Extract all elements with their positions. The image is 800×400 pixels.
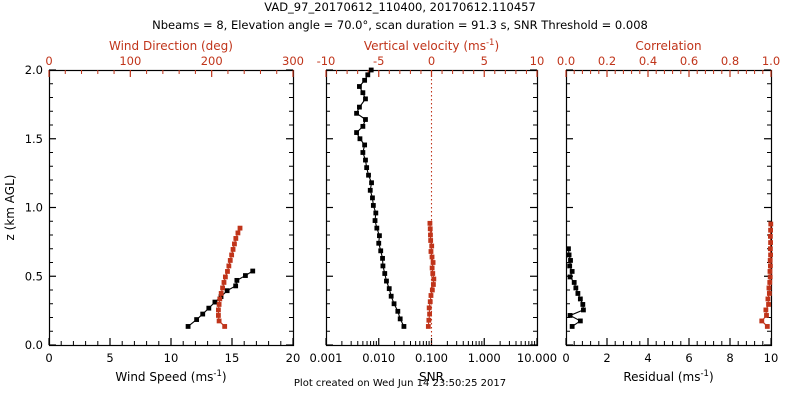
data-point-marker — [570, 269, 575, 274]
data-point-marker — [573, 286, 578, 291]
data-point-marker — [226, 264, 231, 269]
data-point-marker — [428, 221, 433, 226]
data-point-marker — [206, 306, 211, 311]
y-axis-title: z (km AGL) — [3, 175, 17, 241]
data-point-marker — [580, 302, 585, 307]
data-point-marker — [363, 117, 368, 122]
top-tick-label: -10 — [317, 54, 336, 68]
y-tick-label: 0.0 — [25, 338, 43, 352]
data-point-marker — [371, 203, 376, 208]
data-point-marker — [229, 253, 234, 258]
data-point-marker — [228, 258, 233, 263]
top-tick-label: 0.8 — [721, 54, 739, 68]
bottom-tick-label: 10 — [764, 351, 779, 365]
y-tick-label: 2.0 — [25, 63, 43, 77]
data-point-marker — [364, 165, 369, 170]
data-point-marker — [765, 324, 770, 329]
y-tick-label: 0.5 — [25, 269, 43, 283]
data-point-marker — [767, 286, 772, 291]
data-point-marker — [428, 226, 433, 231]
bottom-tick-label: 0.010 — [362, 351, 395, 365]
data-point-marker — [225, 269, 230, 274]
data-point-marker — [213, 300, 218, 305]
data-point-marker — [354, 130, 359, 135]
data-point-marker — [578, 297, 583, 302]
bottom-tick-label: 1.000 — [468, 351, 501, 365]
data-point-marker — [366, 173, 371, 178]
data-point-marker — [427, 305, 432, 310]
data-point-marker — [578, 319, 583, 324]
bottom-tick-label: 20 — [286, 351, 301, 365]
data-point-marker — [392, 301, 397, 306]
data-point-marker — [219, 291, 224, 296]
data-point-marker — [243, 273, 248, 278]
data-point-marker — [384, 279, 389, 284]
data-point-marker — [362, 78, 367, 83]
data-point-marker — [764, 313, 769, 318]
data-point-marker — [233, 236, 238, 241]
data-point-marker — [368, 188, 373, 193]
data-point-marker — [572, 280, 577, 285]
data-point-marker — [768, 275, 773, 280]
bottom-tick-label: 6 — [685, 351, 692, 365]
data-point-marker — [766, 297, 771, 302]
top-tick-label: 100 — [119, 54, 141, 68]
data-point-marker — [374, 226, 379, 231]
data-point-marker — [570, 324, 575, 329]
data-point-marker — [427, 312, 432, 317]
data-point-marker — [429, 293, 434, 298]
panels-svg: 0510152001002003000.00.51.01.52.0Wind Di… — [0, 0, 800, 400]
data-point-marker — [768, 240, 773, 245]
data-point-marker — [360, 150, 365, 155]
bottom-tick-label: 5 — [106, 351, 113, 365]
data-point-marker — [763, 308, 768, 313]
data-point-marker — [363, 96, 368, 101]
data-point-marker — [430, 266, 435, 271]
data-point-marker — [231, 247, 236, 252]
top-axis-title: Vertical velocity (ms-1) — [364, 38, 499, 53]
top-tick-label: 1.0 — [762, 54, 780, 68]
data-point-marker — [768, 269, 773, 274]
data-point-marker — [567, 253, 572, 258]
data-point-marker — [398, 316, 403, 321]
data-point-marker — [357, 105, 362, 110]
panel-1: 0510152001002003000.00.51.01.52.0Wind Di… — [25, 39, 304, 384]
top-tick-label: 300 — [282, 54, 304, 68]
data-point-marker — [222, 280, 227, 285]
data-point-marker — [429, 244, 434, 249]
data-point-marker — [387, 286, 392, 291]
data-point-marker — [217, 319, 222, 324]
data-point-marker — [236, 231, 241, 236]
bottom-tick-label: 15 — [225, 351, 240, 365]
data-point-marker — [238, 226, 243, 231]
data-point-marker — [186, 324, 191, 329]
bottom-tick-label: 0 — [562, 351, 569, 365]
data-point-marker — [567, 264, 572, 269]
data-point-marker — [365, 72, 370, 77]
data-point-marker — [431, 282, 436, 287]
data-point-marker — [568, 313, 573, 318]
data-point-marker — [767, 280, 772, 285]
panel-2: 0.0010.0100.1001.00010.000-10-50510Verti… — [310, 38, 558, 384]
data-point-marker — [378, 248, 383, 253]
data-point-marker — [369, 68, 374, 73]
bottom-tick-label: 0.100 — [415, 351, 448, 365]
data-point-marker — [767, 291, 772, 296]
data-point-marker — [428, 233, 433, 238]
top-tick-label: 0.2 — [598, 54, 616, 68]
data-point-marker — [568, 258, 573, 263]
data-point-marker — [768, 234, 773, 239]
data-point-marker — [373, 218, 378, 223]
plot-frame — [567, 71, 772, 346]
data-point-marker — [354, 111, 359, 116]
data-point-marker — [426, 318, 431, 323]
data-point-marker — [376, 241, 381, 246]
data-point-marker — [426, 324, 431, 329]
data-point-marker — [358, 136, 363, 141]
data-point-marker — [768, 264, 773, 269]
data-point-marker — [217, 302, 222, 307]
data-point-marker — [430, 288, 435, 293]
top-tick-label: 0 — [428, 54, 435, 68]
top-axis-title: Correlation — [635, 39, 701, 53]
data-point-marker — [360, 124, 365, 129]
data-point-marker — [369, 180, 374, 185]
data-point-marker — [234, 278, 239, 283]
bottom-tick-label: 4 — [644, 351, 651, 365]
bottom-tick-label: 10 — [164, 351, 179, 365]
plot-frame — [50, 71, 294, 346]
y-tick-label: 1.5 — [25, 132, 43, 146]
data-point-marker — [759, 319, 764, 324]
top-tick-label: 0.4 — [639, 54, 657, 68]
top-tick-label: 5 — [481, 54, 488, 68]
data-point-marker — [431, 260, 436, 265]
top-axis-title: Wind Direction (deg) — [109, 39, 233, 53]
data-point-marker — [389, 294, 394, 299]
data-point-marker — [381, 264, 386, 269]
bottom-tick-label: 2 — [603, 351, 610, 365]
plot-footer-timestamp: Plot created on Wed Jun 14 23:50:25 2017 — [0, 379, 800, 389]
data-point-marker — [430, 255, 435, 260]
data-point-marker — [428, 238, 433, 243]
data-point-marker — [200, 312, 205, 317]
data-point-marker — [377, 233, 382, 238]
data-point-marker — [357, 84, 362, 89]
data-point-marker — [233, 283, 238, 288]
data-point-marker — [225, 288, 230, 293]
top-tick-label: 0 — [45, 54, 52, 68]
data-point-marker — [768, 246, 773, 251]
data-point-marker — [194, 317, 199, 322]
data-point-marker — [370, 195, 375, 200]
bottom-tick-label: 0.001 — [310, 351, 343, 365]
top-tick-label: 200 — [201, 54, 223, 68]
data-point-marker — [575, 291, 580, 296]
top-tick-label: 0.0 — [557, 54, 575, 68]
data-point-marker — [768, 258, 773, 263]
vad-profile-plot: VAD_97_20170612_110400, 20170612.110457 … — [0, 0, 800, 400]
data-point-marker — [216, 308, 221, 313]
data-point-marker — [360, 90, 365, 95]
data-point-marker — [768, 222, 773, 227]
data-point-marker — [429, 249, 434, 254]
data-point-marker — [217, 297, 222, 302]
data-point-marker — [373, 211, 378, 216]
data-point-marker — [380, 256, 385, 261]
data-point-marker — [220, 286, 225, 291]
data-point-marker — [581, 308, 586, 313]
data-point-marker — [223, 275, 228, 280]
bottom-tick-label: 8 — [726, 351, 733, 365]
data-point-marker — [362, 143, 367, 148]
data-point-marker — [363, 158, 368, 163]
data-point-marker — [430, 271, 435, 276]
panel-3: 02468100.00.20.40.60.81.0CorrelationResi… — [557, 39, 780, 384]
data-point-marker — [250, 269, 255, 274]
bottom-tick-label: 0 — [45, 351, 52, 365]
data-point-marker — [568, 275, 573, 280]
data-point-marker — [428, 299, 433, 304]
data-point-marker — [222, 324, 227, 329]
data-point-marker — [395, 309, 400, 314]
top-tick-label: 10 — [530, 54, 545, 68]
data-point-marker — [382, 271, 387, 276]
data-point-marker — [768, 253, 773, 258]
data-point-marker — [766, 302, 771, 307]
top-tick-label: -5 — [373, 54, 384, 68]
top-tick-label: 0.6 — [680, 54, 698, 68]
y-tick-label: 1.0 — [25, 201, 43, 215]
data-point-marker — [402, 324, 407, 329]
data-point-marker — [216, 313, 221, 318]
bottom-tick-label: 10.000 — [517, 351, 557, 365]
data-point-marker — [232, 242, 237, 247]
data-point-marker — [431, 277, 436, 282]
data-point-marker — [768, 228, 773, 233]
data-point-marker — [566, 246, 571, 251]
